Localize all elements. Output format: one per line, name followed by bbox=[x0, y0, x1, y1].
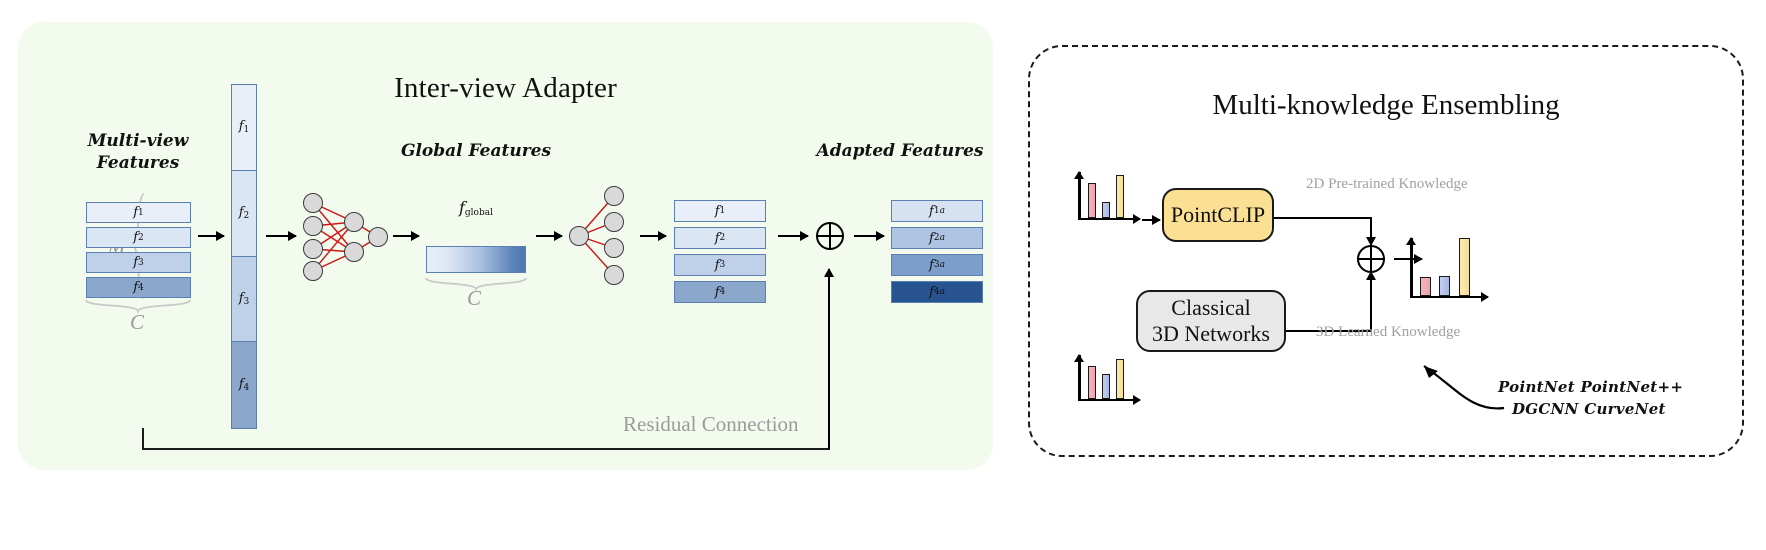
mlp-decoder-node-in bbox=[569, 226, 589, 246]
multiview-label-line1: Multi-view bbox=[88, 131, 189, 151]
mlp-encoder-node-in-4 bbox=[303, 261, 323, 281]
arrow-sum-to-adapted bbox=[854, 235, 884, 237]
concat-segment-label-4: f4 bbox=[232, 377, 256, 393]
feature-subscript: 1 bbox=[138, 208, 144, 218]
decoded-feature-stack: f1f2f3f4 bbox=[674, 200, 766, 308]
feature-row-4: f4 bbox=[674, 281, 766, 303]
residual-line-vertical-left bbox=[142, 428, 144, 450]
multiview-feature-stack: f1f2f3f4 bbox=[86, 202, 191, 302]
mlp-decoder-node-out-1 bbox=[604, 186, 624, 206]
feature-subscript: 1 bbox=[244, 125, 250, 135]
f-global-subscript: global bbox=[465, 208, 493, 218]
arrow-global-to-decoder bbox=[536, 235, 562, 237]
mlp-encoder-node-hidden-1 bbox=[344, 212, 364, 232]
chart-icon-classical-input bbox=[1078, 355, 1140, 401]
feature-subscript: 2 bbox=[138, 233, 144, 243]
mlp-decoder-node-out-4 bbox=[604, 265, 624, 285]
network-names-line1: PointNet PointNet++ bbox=[1498, 378, 1683, 396]
arrow-chart1-to-pointclip bbox=[1142, 219, 1160, 221]
feature-subscript: 2 bbox=[720, 233, 726, 243]
elbow-2d-arrow-down bbox=[1370, 217, 1372, 245]
arrow-concat-to-mlp bbox=[266, 235, 296, 237]
global-features-label: Global Features bbox=[396, 140, 556, 162]
feature-row-3: f3 bbox=[674, 254, 766, 276]
ensembled-logits-bar-1 bbox=[1420, 277, 1431, 296]
elbow-3d-arrow-up bbox=[1370, 272, 1372, 332]
arrow-stack-to-concat bbox=[198, 235, 224, 237]
feature-row-4: f4 bbox=[86, 277, 191, 298]
chart1-y-axis bbox=[1078, 172, 1081, 220]
pointclip-input-logits-bar-1 bbox=[1088, 183, 1096, 218]
arrow-mlp-to-global bbox=[393, 235, 419, 237]
mlp-encoder-node-out bbox=[368, 227, 388, 247]
residual-line-horizontal bbox=[142, 448, 830, 450]
mlp-encoder-node-in-3 bbox=[303, 239, 323, 259]
pointclip-box[interactable]: PointCLIP bbox=[1162, 188, 1274, 242]
feature-row-2: f2 bbox=[674, 227, 766, 249]
chart2-y-axis bbox=[1078, 355, 1081, 401]
feature-subscript: 3 bbox=[138, 258, 144, 268]
feature-subscript: 4 bbox=[244, 383, 250, 393]
concat-segment-3: f3 bbox=[232, 257, 256, 343]
feature-row-1: f1 bbox=[86, 202, 191, 223]
feature-row-4: f4a bbox=[891, 281, 983, 303]
mlp-decoder-node-out-2 bbox=[604, 212, 624, 232]
feature-row-2: f2a bbox=[891, 227, 983, 249]
concat-segment-4: f4 bbox=[232, 342, 256, 428]
arrow-decoded-to-sum bbox=[778, 235, 808, 237]
feature-subscript: 4 bbox=[138, 283, 144, 293]
classical-3d-networks-box[interactable]: Classical 3D Networks bbox=[1136, 290, 1286, 352]
feature-row-3: f3 bbox=[86, 252, 191, 273]
residual-sum-icon bbox=[816, 222, 844, 250]
classical-label-line2: 3D Networks bbox=[1152, 321, 1270, 346]
dim-c-stack-label: C bbox=[130, 310, 144, 335]
mlp-encoder-node-in-1 bbox=[303, 193, 323, 213]
mlp-encoder-node-in-2 bbox=[303, 216, 323, 236]
feature-row-3: f3a bbox=[891, 254, 983, 276]
concat-segment-label-2: f2 bbox=[232, 205, 256, 221]
ensembled-logits-bar-3 bbox=[1459, 238, 1470, 296]
chart3-y-axis bbox=[1410, 238, 1413, 298]
classical-input-logits-bar-2 bbox=[1102, 374, 1110, 399]
multiview-features-label: Multi-view Features bbox=[58, 130, 218, 174]
chart-icon-ensembled-logits bbox=[1410, 238, 1488, 298]
feature-superscript: a bbox=[940, 233, 945, 243]
feature-superscript: a bbox=[940, 206, 945, 216]
elbow-2d-horizontal bbox=[1274, 217, 1372, 219]
feature-subscript: 4 bbox=[720, 287, 726, 297]
global-feature-vector bbox=[426, 246, 526, 273]
concatenated-feature-vector: f1f2f3f4 bbox=[231, 84, 257, 429]
knowledge-3d-label: 3D Learned Knowledge bbox=[1316, 324, 1460, 341]
ensembled-logits-bar-2 bbox=[1439, 276, 1450, 296]
feature-subscript: 3 bbox=[720, 260, 726, 270]
feature-row-2: f2 bbox=[86, 227, 191, 248]
f-global-label: fglobal bbox=[426, 198, 526, 218]
concat-segment-label-3: f3 bbox=[232, 291, 256, 307]
concat-segment-label-1: f1 bbox=[232, 119, 256, 135]
adapter-title: Inter-view Adapter bbox=[18, 72, 993, 105]
classical-label-line1: Classical bbox=[1171, 295, 1250, 320]
residual-connection-label: Residual Connection bbox=[623, 412, 799, 437]
dim-c-global-label: C bbox=[467, 286, 481, 311]
mlp-decoder-node-out-3 bbox=[604, 238, 624, 258]
network-names-line2: DGCNN CurveNet bbox=[1512, 400, 1666, 418]
concat-segment-2: f2 bbox=[232, 171, 256, 257]
feature-superscript: a bbox=[940, 287, 945, 297]
ensembling-title: Multi-knowledge Ensembling bbox=[1030, 89, 1742, 122]
pointclip-input-logits-bar-3 bbox=[1116, 175, 1124, 218]
chart-icon-pointclip-input bbox=[1078, 172, 1140, 220]
mlp-encoder-node-hidden-2 bbox=[344, 242, 364, 262]
residual-arrow-up bbox=[828, 269, 830, 449]
feature-superscript: a bbox=[940, 260, 945, 270]
knowledge-2d-label: 2D Pre-trained Knowledge bbox=[1306, 176, 1468, 193]
feature-subscript: 1 bbox=[720, 206, 726, 216]
classical-input-logits-bar-1 bbox=[1088, 366, 1096, 399]
inter-view-adapter-panel: Inter-view Adapter Multi-view Features M… bbox=[18, 22, 993, 470]
concat-segment-1: f1 bbox=[232, 85, 256, 171]
feature-row-1: f1 bbox=[674, 200, 766, 222]
pointclip-input-logits-bar-2 bbox=[1102, 202, 1110, 218]
multiview-label-line2: Features bbox=[97, 153, 180, 173]
arrow-decoder-to-decoded bbox=[640, 235, 666, 237]
feature-row-1: f1a bbox=[891, 200, 983, 222]
feature-subscript: 3 bbox=[244, 297, 250, 307]
feature-subscript: 2 bbox=[244, 211, 250, 221]
pointclip-label: PointCLIP bbox=[1171, 202, 1265, 228]
classical-input-logits-bar-3 bbox=[1116, 359, 1124, 399]
adapted-feature-stack: f1af2af3af4a bbox=[891, 200, 983, 308]
ensembling-sum-icon bbox=[1357, 245, 1385, 273]
adapted-features-label: Adapted Features bbox=[810, 140, 990, 162]
